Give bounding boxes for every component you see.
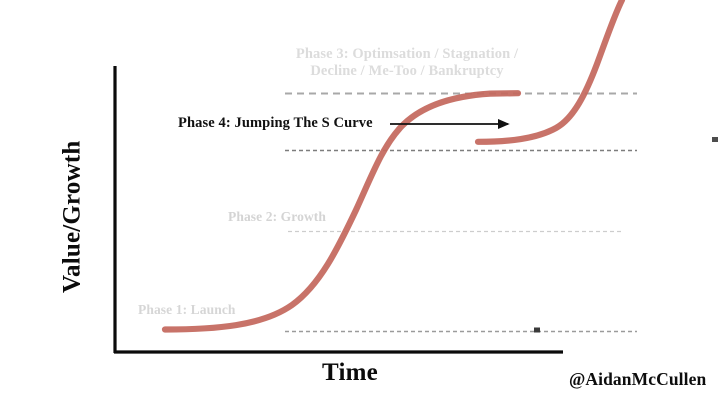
phase3-annotation: Phase 3: Optimsation / Stagnation / Decl… [282, 46, 532, 80]
y-axis-title: Value/Growth [57, 127, 87, 307]
right-edge-artifact [712, 137, 718, 142]
launch-line-marker [534, 328, 540, 333]
phase2-annotation: Phase 2: Growth [228, 209, 326, 225]
slide-canvas: Phase 3: Optimsation / Stagnation / Decl… [0, 0, 720, 405]
phase4-annotation: Phase 4: Jumping The S Curve [178, 115, 373, 132]
phase1-annotation: Phase 1: Launch [138, 302, 236, 318]
x-axis-title: Time [305, 358, 395, 388]
author-handle-watermark: @AidanMcCullen [569, 369, 706, 390]
